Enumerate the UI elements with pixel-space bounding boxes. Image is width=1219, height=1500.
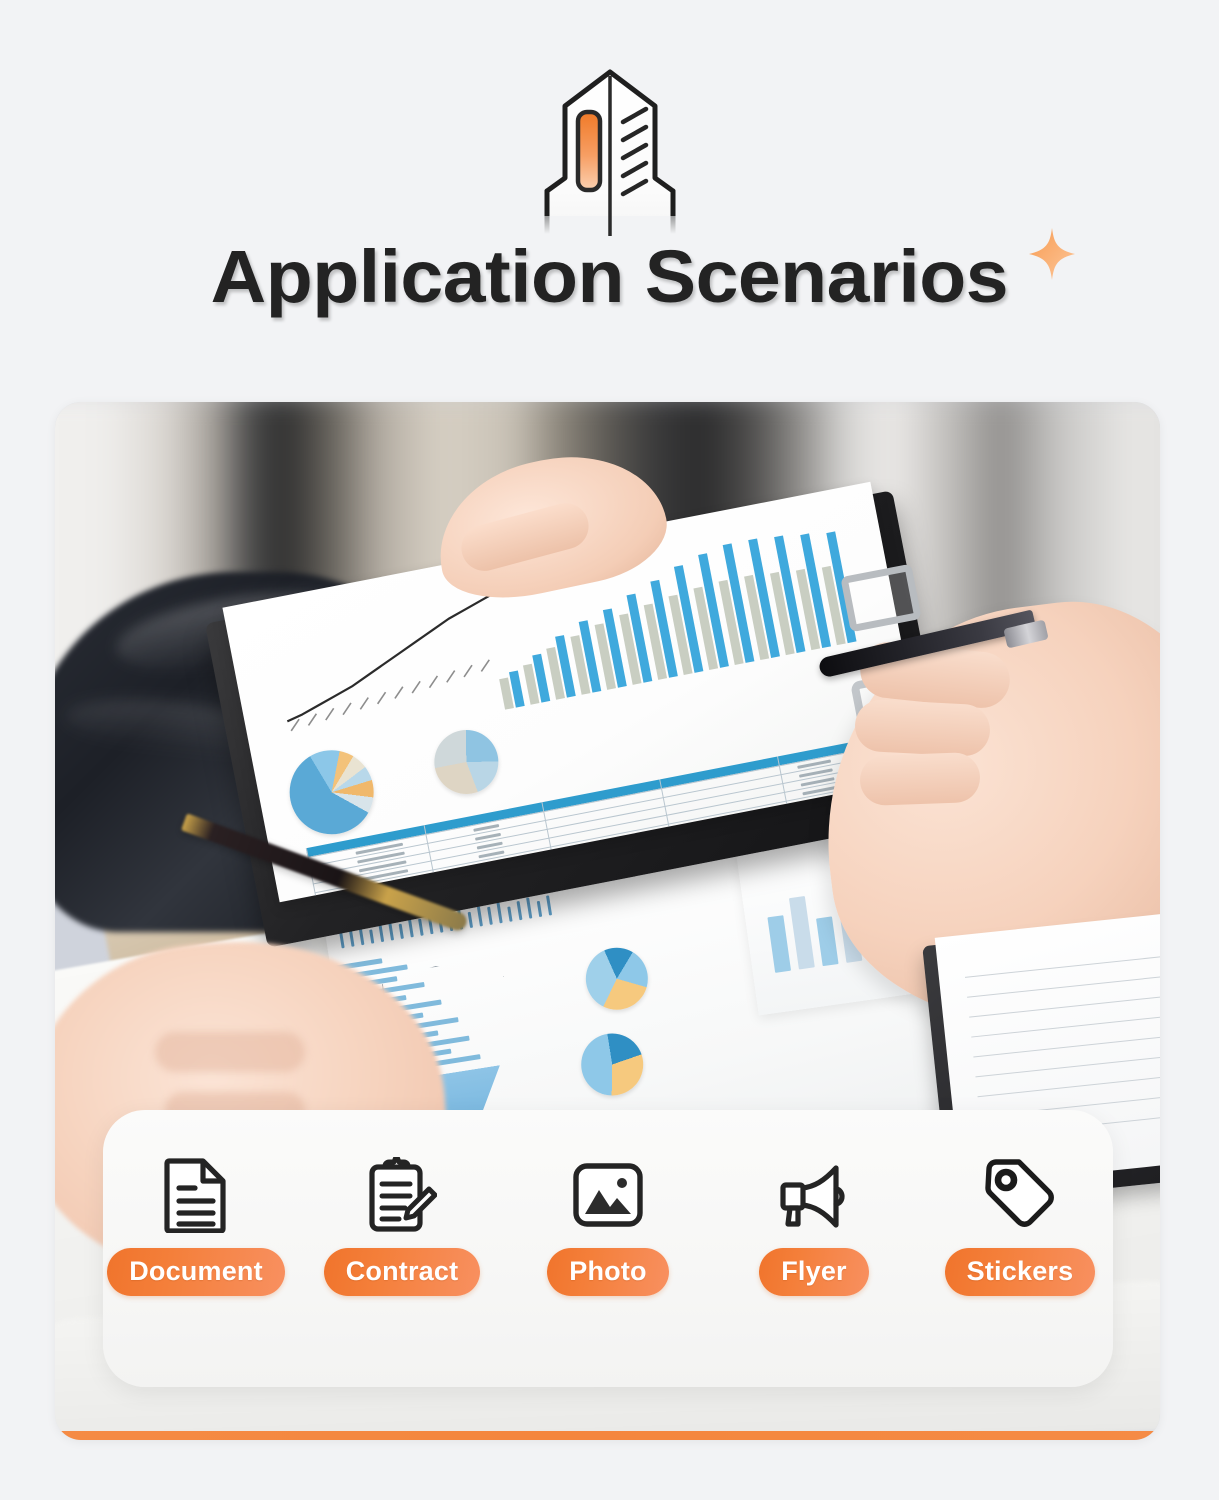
pie-chart — [282, 743, 380, 841]
document-icon — [163, 1156, 229, 1234]
image-icon — [572, 1156, 644, 1234]
megaphone-icon — [776, 1156, 852, 1234]
category-item-flyer[interactable]: Flyer — [728, 1156, 900, 1296]
category-badge-document[interactable]: Document — [107, 1248, 285, 1296]
page-title: Application Scenarios — [211, 240, 1008, 314]
category-item-document[interactable]: Document — [110, 1156, 282, 1296]
category-item-photo[interactable]: Photo — [522, 1156, 694, 1296]
category-badge-contract[interactable]: Contract — [324, 1248, 481, 1296]
page-header: Application Scenarios — [0, 0, 1219, 392]
finger — [854, 699, 992, 758]
scenario-photo-card: Document Con — [55, 402, 1160, 1440]
category-panel: Document Con — [103, 1110, 1113, 1387]
category-item-contract[interactable]: Contract — [316, 1156, 488, 1296]
category-badge-stickers[interactable]: Stickers — [945, 1248, 1096, 1296]
category-list: Document Con — [110, 1156, 1106, 1296]
category-item-stickers[interactable]: Stickers — [934, 1156, 1106, 1296]
category-badge-photo[interactable]: Photo — [547, 1248, 668, 1296]
sparkle-star-icon — [1029, 228, 1075, 280]
category-badge-flyer[interactable]: Flyer — [759, 1248, 869, 1296]
pie-chart — [577, 1029, 648, 1100]
price-tag-icon — [985, 1156, 1055, 1234]
clipboard-pencil-icon — [367, 1156, 437, 1234]
pie-chart — [429, 724, 504, 799]
pie-chart — [581, 943, 652, 1014]
finger — [859, 752, 981, 806]
